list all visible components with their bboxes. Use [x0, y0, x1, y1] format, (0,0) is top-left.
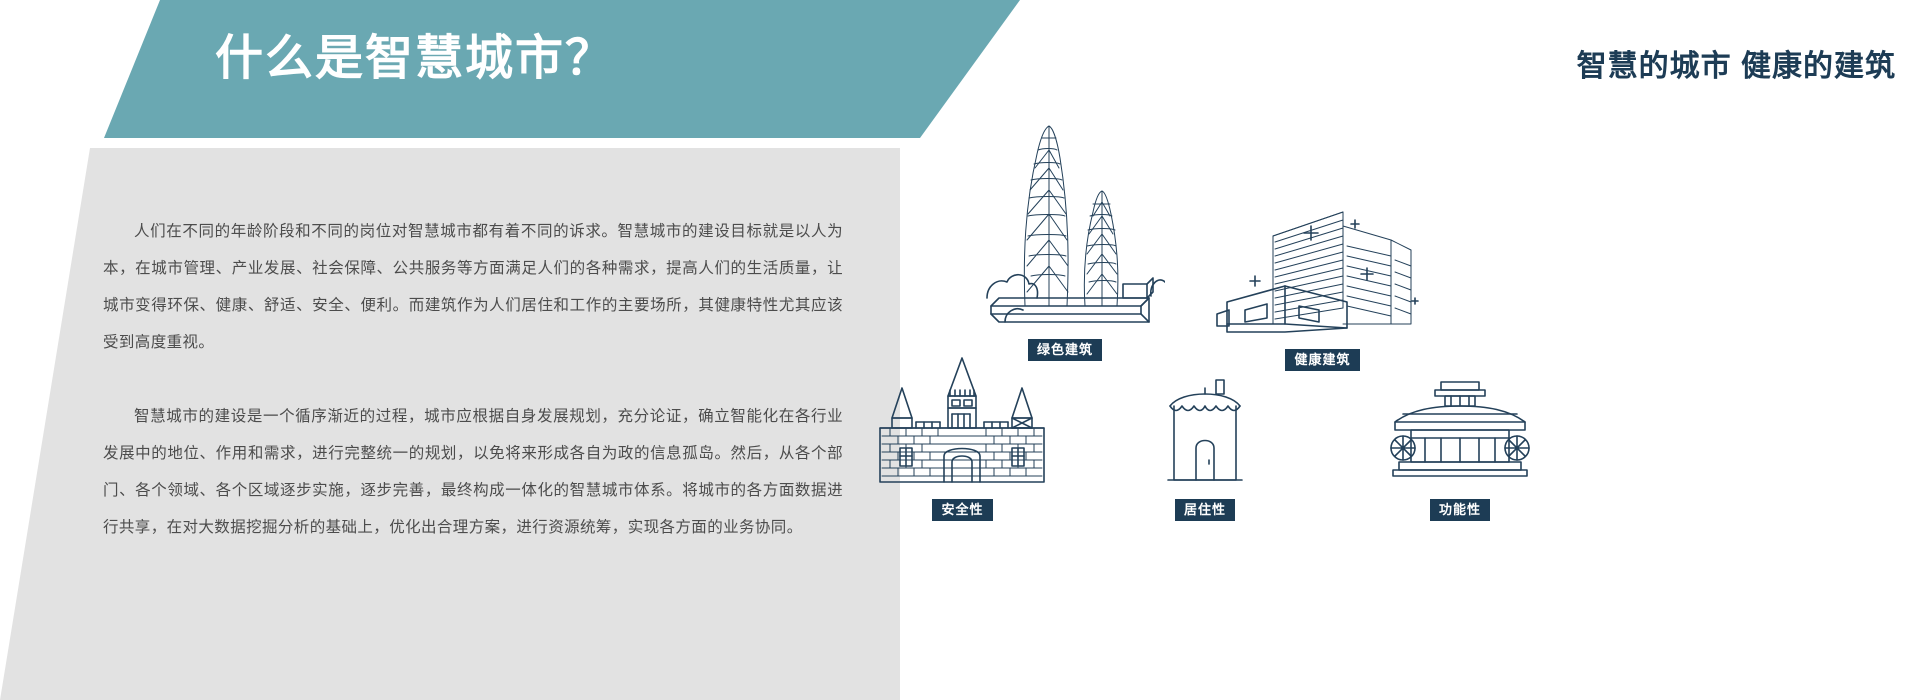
paragraph-2: 智慧城市的建设是一个循序渐近的过程，城市应根据自身发展规划，充分论证，确立智能化…	[103, 398, 843, 546]
right-heading: 智慧的城市 健康的建筑	[1577, 41, 1896, 85]
illustration-green-building[interactable]: 绿色建筑	[965, 106, 1165, 361]
body-text-block: 人们在不同的年龄阶段和不同的岗位对智慧城市都有着不同的诉求。智慧城市的建设目标就…	[103, 213, 843, 546]
hospital-health-building-icon	[1215, 206, 1430, 341]
illustration-label: 功能性	[1430, 499, 1490, 521]
castle-security-icon	[860, 356, 1065, 491]
illustration-label: 居住性	[1175, 499, 1235, 521]
illustration-label: 安全性	[932, 499, 992, 521]
page-title: 什么是智慧城市？	[215, 33, 615, 86]
twin-towers-green-building-icon	[965, 106, 1165, 331]
pavilion-functionality-icon	[1385, 376, 1535, 491]
illustration-panel: 绿色建筑	[860, 96, 1920, 700]
house-livability-icon	[1160, 376, 1250, 491]
illustration-functionality[interactable]: 功能性	[1385, 376, 1535, 521]
illustration-security[interactable]: 安全性	[860, 356, 1065, 521]
illustration-health-building[interactable]: 健康建筑	[1215, 206, 1430, 371]
illustration-livability[interactable]: 居住性	[1160, 376, 1250, 521]
illustration-label: 健康建筑	[1285, 349, 1359, 371]
paragraph-1: 人们在不同的年龄阶段和不同的岗位对智慧城市都有着不同的诉求。智慧城市的建设目标就…	[103, 213, 843, 361]
